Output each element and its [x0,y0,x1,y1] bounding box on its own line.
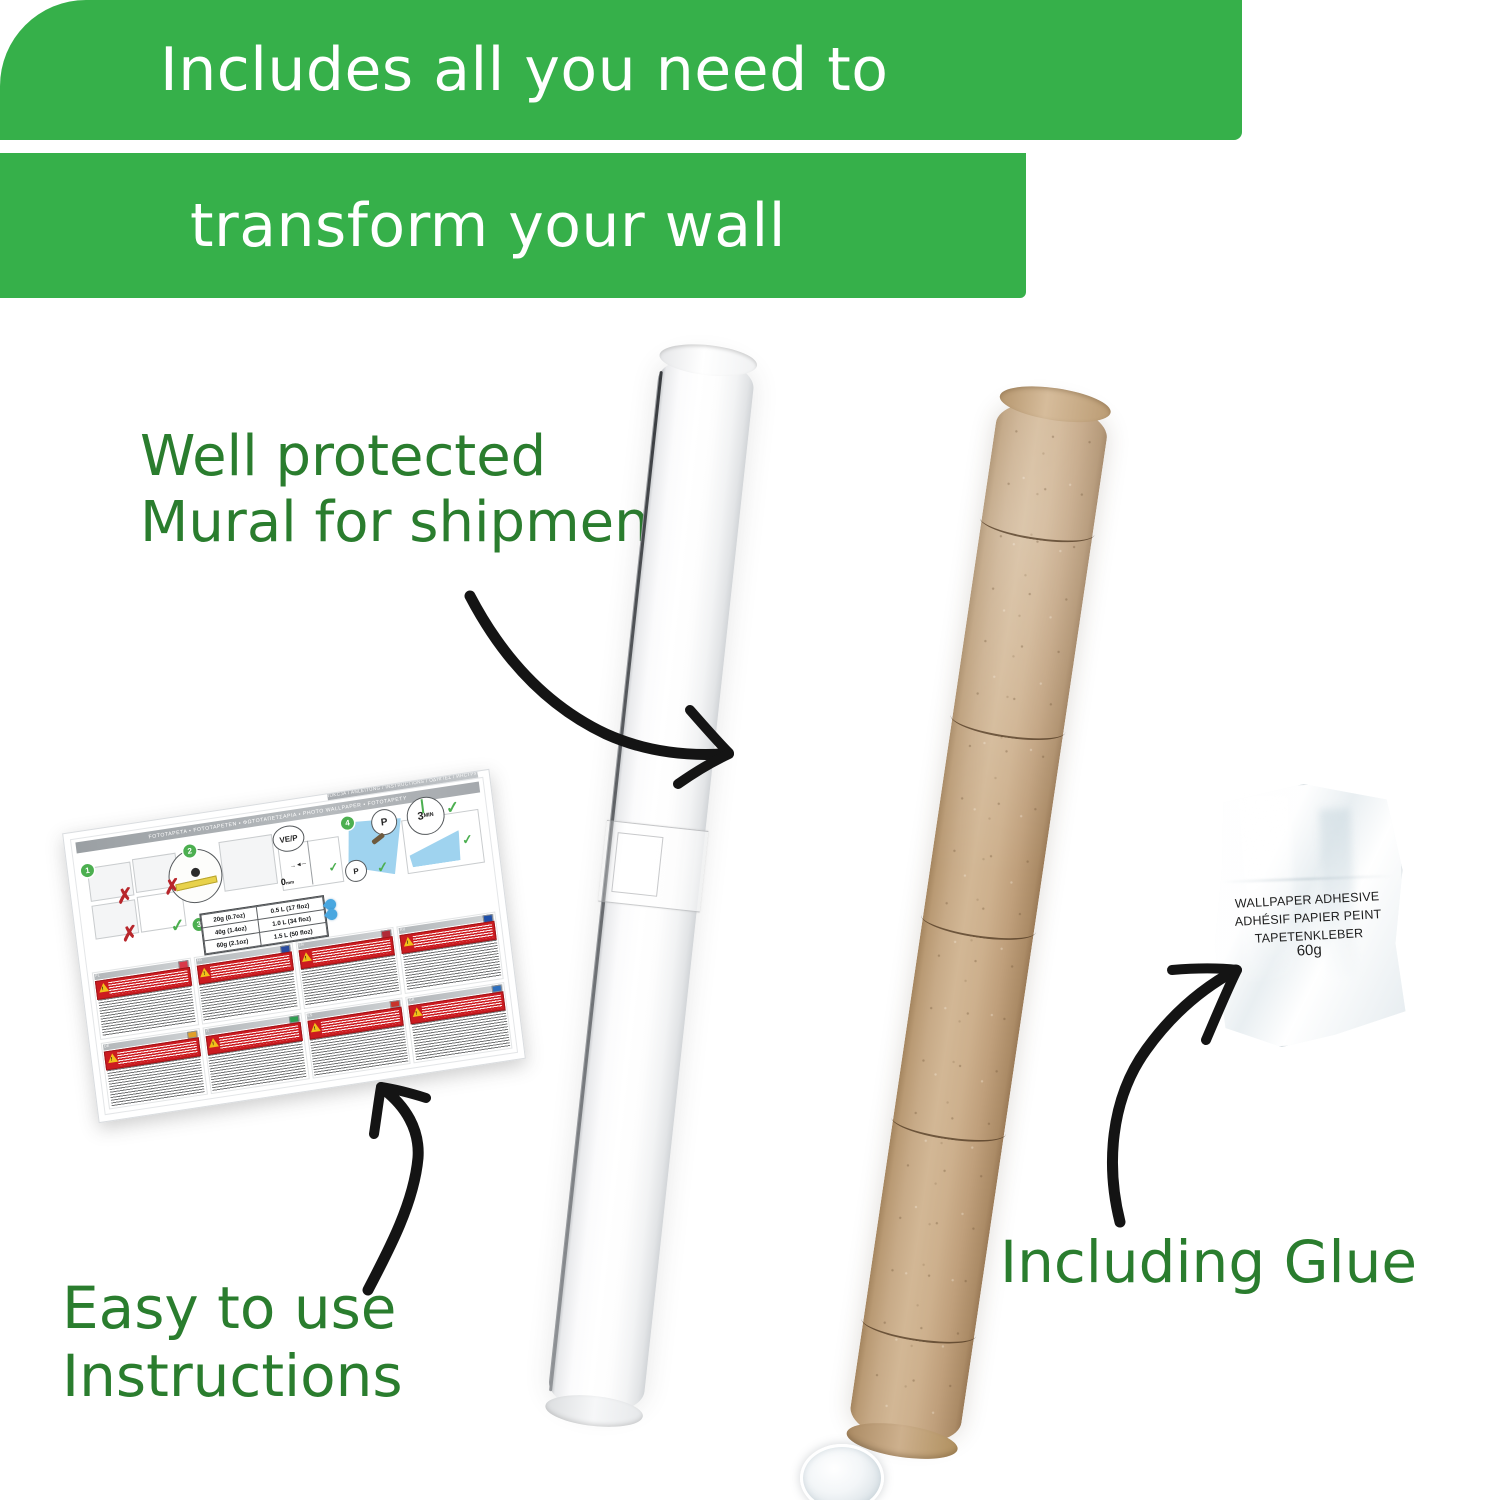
warning-triangle-icon [199,967,210,977]
instruction-sheet: FOTOTAPETA • FOTOTAPETEN • ΦΩΤΟΤΑΠΕΤΣΑΡΙ… [62,769,526,1123]
tube-end-cap [800,1444,884,1500]
warning-triangle-icon [301,952,312,962]
arrow-to-instructions-icon [328,1062,518,1302]
language-code: ES [307,1013,313,1018]
headline-banner-top-text: Includes all you need to [160,40,888,100]
warning-triangle-icon [310,1022,321,1032]
language-code: DE [104,1043,110,1048]
soak-unit: MIN [423,812,434,819]
language-code: PL [95,974,100,979]
warning-triangle-icon [98,982,109,992]
product-infographic: Includes all you need to transform your … [0,0,1500,1500]
check-mark: ✓ [328,861,339,874]
glue-sachet: WALLPAPER ADHESIVE ADHÉSIF PAPIER PEINT … [1207,781,1408,1050]
water-drop-icon [322,896,339,917]
cross-mark: ✗ [115,886,134,908]
warning-triangle-icon [208,1037,219,1047]
warning-triangle-icon [107,1052,118,1062]
headline-banner-bottom: transform your wall [0,153,1026,298]
check-mark: ✓ [170,916,186,935]
language-block: ES [304,997,411,1079]
callout-including-glue: Including Glue [1000,1228,1417,1296]
cross-mark: ✗ [120,923,139,945]
warning-triangle-icon [411,1006,422,1016]
white-roll-tape-band [598,820,708,913]
warning-triangle-icon [403,936,414,946]
language-block: GR [405,981,512,1063]
language-code: FR [197,958,203,963]
language-code: GR [409,997,415,1002]
callout-easy-instructions: Easy to use Instructions [62,1274,403,1411]
language-block: IT [202,1012,309,1094]
check-mark: ✓ [461,832,473,847]
check-mark: ✓ [376,859,389,875]
headline-banner-bottom-text: transform your wall [190,196,786,256]
multilingual-text-grid: PL FR [92,912,513,1110]
language-code: IT [205,1028,209,1033]
language-code: RU [400,927,406,932]
gap-value: 0mm [280,875,294,887]
step2-wall-panel [218,834,278,892]
language-code: EN [298,943,304,948]
callout-well-protected: Well protected Mural for shipment [140,424,672,556]
instruction-sheet-inner: FOTOTAPETA • FOTOTAPETEN • ΦΩΤΟΤΑΠΕΤΣΑΡΙ… [70,777,518,1115]
banner-corner-notch [0,0,86,88]
language-block: DE [101,1028,208,1110]
language-block: RU [397,912,504,994]
check-mark: ✓ [445,800,460,818]
headline-banner-top: Includes all you need to [0,0,1242,140]
language-block: PL [92,958,199,1040]
